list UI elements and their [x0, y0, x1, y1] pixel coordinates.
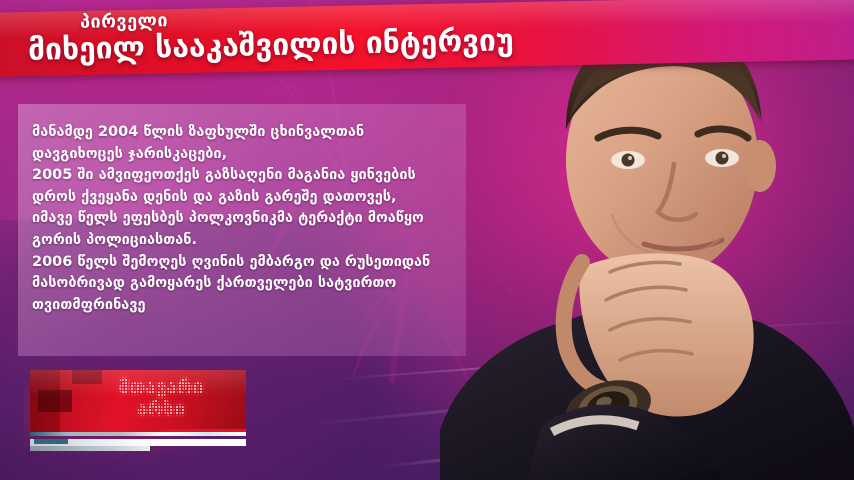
caption-line: დავგიხოცეს ჯარისკაცები,: [32, 144, 462, 166]
caption-line: 2006 წელს შემოღეს ღვინის ემბარგო და რუსე…: [32, 252, 462, 274]
caption-line: მანამდე 2004 წლის ზაფხულში ცხინვალთან: [32, 122, 462, 144]
channel-logo: მთავარი არხი: [30, 370, 246, 432]
logo-led-line-1: მთავარი: [86, 376, 236, 398]
caption-line: დროს ქვეყანა დენის და გაზის გარეშე დათოვ…: [32, 187, 462, 209]
caption-line: გორის პოლიციასთან.: [32, 230, 462, 252]
caption-text-block: მანამდე 2004 წლის ზაფხულში ცხინვალთან და…: [32, 122, 462, 316]
caption-line: 2005 ში ამვიფეოთქეს გაზსაღენი მაგანია ყი…: [32, 165, 462, 187]
logo-underbars: [30, 432, 246, 454]
logo-bar-teal: [34, 439, 68, 444]
caption-line: მასობრივად გამოყარეს ქართველები სატვირთო: [32, 273, 462, 295]
logo-led-line-2: არხი: [86, 398, 236, 420]
caption-line: თვითმფრინავე: [32, 295, 462, 317]
logo-bar-3: [30, 446, 150, 451]
logo-led-text: მთავარი არხი: [86, 376, 236, 420]
channel-kicker: პირველი: [80, 10, 168, 33]
logo-bar-1: [30, 432, 246, 436]
broadcast-frame: პირველი მიხეილ სააკაშვილის ინტერვიუ მანა…: [0, 0, 854, 480]
caption-line: იმავე წელს ეფესბეს პოლკოვნიკმა ტერაქტი მ…: [32, 208, 462, 230]
